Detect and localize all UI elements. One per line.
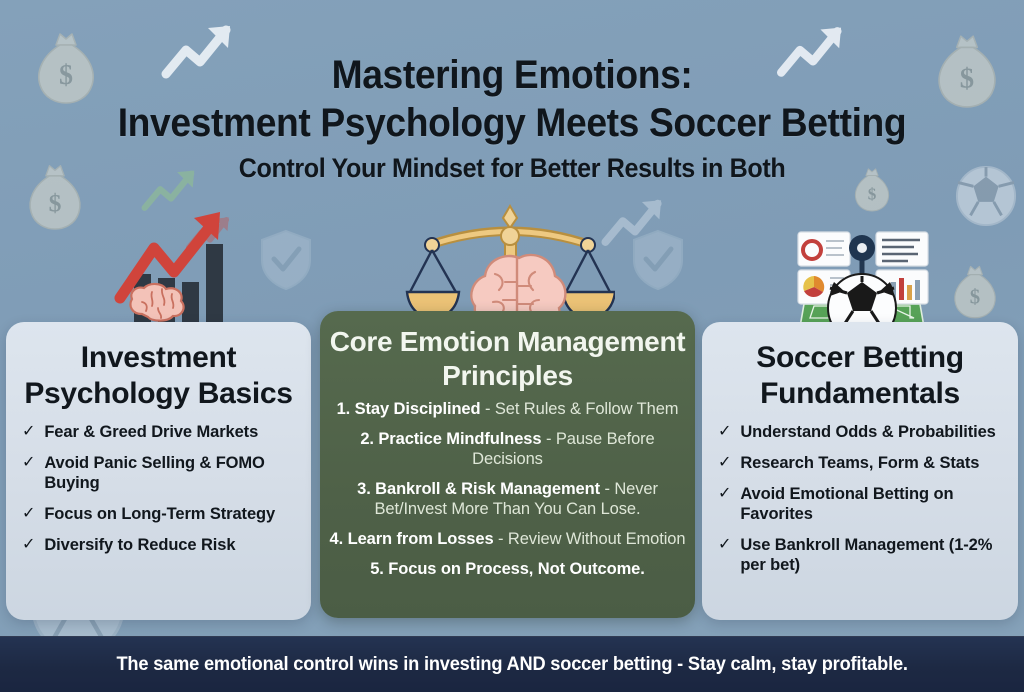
list-item-lead: Focus on Process, Not Outcome. [388, 560, 644, 578]
list-item-label: Fear & Greed Drive Markets [44, 422, 297, 442]
page-title: Mastering Emotions: Investment Psycholog… [0, 52, 1024, 188]
list-item-dash: - [494, 530, 508, 548]
list-item: ✓ Diversify to Reduce Risk [22, 535, 297, 555]
card-core-emotion-management-principles: Core Emotion Management Principles 1. St… [320, 311, 695, 618]
list-item-label: Use Bankroll Management (1-2% per bet) [740, 535, 1004, 575]
list-item-label: Diversify to Reduce Risk [44, 535, 297, 555]
card-middle-list: 1. Stay Disciplined - Set Rules & Follow… [320, 397, 695, 579]
card-right-list: ✓ Understand Odds & Probabilities ✓ Rese… [702, 418, 1018, 575]
list-item-dash: - [541, 430, 555, 448]
list-item-lead: Learn from Losses [348, 530, 494, 548]
card-middle-heading-line-1: Core Emotion Management [328, 325, 687, 359]
list-item-label: Avoid Panic Selling & FOMO Buying [44, 453, 297, 493]
list-item-lead: Bankroll & Risk Management [375, 480, 600, 498]
list-item: ✓ Avoid Panic Selling & FOMO Buying [22, 453, 297, 493]
card-right-heading-line-1: Soccer Betting [712, 340, 1008, 376]
infographic-poster: $ $ $ $ $ [0, 0, 1024, 692]
list-item: 1. Stay Disciplined - Set Rules & Follow… [328, 399, 687, 419]
list-item-detail: Review Without Emotion [508, 530, 686, 548]
card-investment-psychology-basics: Investment Psychology Basics ✓ Fear & Gr… [6, 322, 311, 620]
list-item: ✓ Research Teams, Form & Stats [718, 453, 1004, 473]
card-left-heading-line-2: Psychology Basics [16, 376, 301, 412]
page-subtitle: Control Your Mindset for Better Results … [36, 148, 988, 188]
svg-text:$: $ [49, 189, 62, 218]
list-item-number: 5. [370, 560, 384, 578]
list-item-lead: Practice Mindfulness [378, 430, 541, 448]
check-icon: ✓ [22, 422, 35, 442]
list-item: ✓ Use Bankroll Management (1-2% per bet) [718, 535, 1004, 575]
list-item-number: 4. [330, 530, 344, 548]
list-item: ✓ Focus on Long-Term Strategy [22, 504, 297, 524]
list-item-number: 2. [360, 430, 374, 448]
list-item: 2. Practice Mindfulness - Pause Before D… [328, 429, 687, 469]
card-left-heading: Investment Psychology Basics [6, 322, 311, 418]
svg-text:$: $ [970, 285, 980, 309]
list-item: ✓ Fear & Greed Drive Markets [22, 422, 297, 442]
check-icon: ✓ [718, 453, 731, 473]
card-soccer-betting-fundamentals: Soccer Betting Fundamentals ✓ Understand… [702, 322, 1018, 620]
list-item: 4. Learn from Losses - Review Without Em… [328, 529, 687, 549]
title-line-2: Investment Psychology Meets Soccer Betti… [36, 98, 988, 148]
list-item: ✓ Avoid Emotional Betting on Favorites [718, 484, 1004, 524]
check-icon: ✓ [718, 484, 731, 504]
list-item-detail: Set Rules & Follow Them [495, 400, 679, 418]
brain-bar-chart-illustration [108, 196, 258, 341]
check-icon: ✓ [22, 504, 35, 524]
list-item-label: Understand Odds & Probabilities [740, 422, 1004, 442]
check-icon: ✓ [22, 453, 35, 473]
card-right-heading: Soccer Betting Fundamentals [702, 322, 1018, 418]
list-item-number: 1. [337, 400, 351, 418]
footer-banner: The same emotional control wins in inves… [0, 636, 1024, 692]
card-right-heading-line-2: Fundamentals [712, 376, 1008, 412]
list-item-label: Focus on Long-Term Strategy [44, 504, 297, 524]
list-item-label: Avoid Emotional Betting on Favorites [740, 484, 1004, 524]
shield-check-icon [630, 228, 686, 292]
list-item: 3. Bankroll & Risk Management - Never Be… [328, 479, 687, 519]
list-item: ✓ Understand Odds & Probabilities [718, 422, 1004, 442]
check-icon: ✓ [718, 422, 731, 442]
list-item-dash: - [480, 400, 494, 418]
list-item-dash: - [600, 480, 614, 498]
card-middle-heading-line-2: Principles [328, 359, 687, 393]
card-left-heading-line-1: Investment [16, 340, 301, 376]
card-middle-heading: Core Emotion Management Principles [320, 311, 695, 397]
card-left-list: ✓ Fear & Greed Drive Markets ✓ Avoid Pan… [6, 418, 311, 555]
footer-text: The same emotional control wins in inves… [116, 654, 907, 676]
title-line-1: Mastering Emotions: [36, 52, 988, 98]
list-item: 5. Focus on Process, Not Outcome. [328, 559, 687, 579]
list-item-label: Research Teams, Form & Stats [740, 453, 1004, 473]
check-icon: ✓ [718, 535, 731, 555]
list-item-number: 3. [357, 480, 371, 498]
list-item-lead: Stay Disciplined [355, 400, 481, 418]
check-icon: ✓ [22, 535, 35, 555]
money-bag-icon: $ [948, 262, 1002, 320]
shield-check-icon [258, 228, 314, 292]
